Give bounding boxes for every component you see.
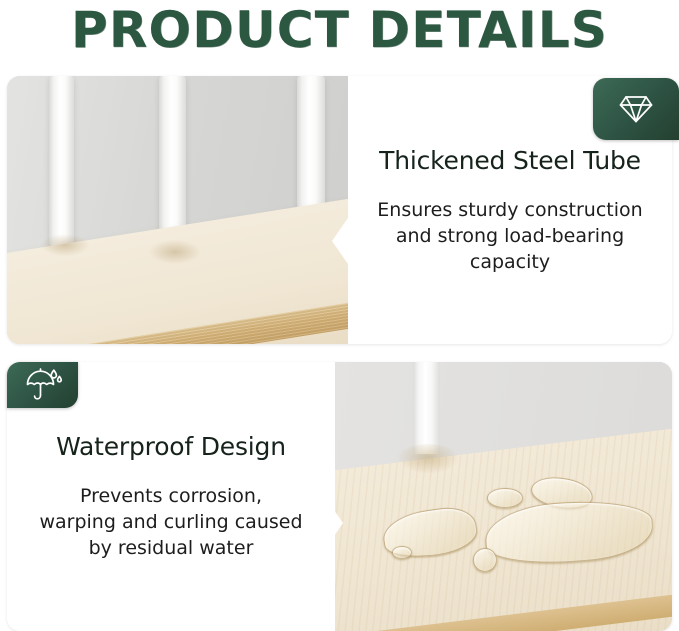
feature-photo-steel-tube bbox=[7, 76, 348, 344]
feature-card-thickened-steel-tube: Thickened Steel Tube Ensures sturdy cons… bbox=[7, 76, 672, 344]
steel-tube-leg bbox=[49, 76, 74, 246]
feature-body-line: capacity bbox=[470, 251, 550, 273]
badge-waterproof-design bbox=[7, 362, 78, 408]
feature-body-line: Prevents corrosion, bbox=[80, 485, 262, 507]
water-droplet bbox=[487, 488, 523, 508]
water-droplet bbox=[392, 546, 412, 559]
tube-contact-shadow bbox=[397, 444, 459, 474]
callout-pointer-icon bbox=[332, 215, 350, 267]
steel-tube-leg bbox=[413, 362, 440, 454]
feature-body-line: Ensures sturdy construction bbox=[377, 199, 642, 221]
water-droplet bbox=[473, 548, 497, 572]
badge-thickened-steel-tube bbox=[593, 78, 679, 140]
feature-card-waterproof-design: Waterproof Design Prevents corrosion, wa… bbox=[7, 362, 672, 631]
feature-body-line: and strong load-bearing bbox=[396, 225, 624, 247]
feature-body-line: warping and curling caused bbox=[39, 511, 302, 533]
feature-heading: Waterproof Design bbox=[56, 432, 286, 461]
tube-contact-shadow bbox=[149, 240, 201, 264]
feature-body: Prevents corrosion, warping and curling … bbox=[39, 483, 302, 561]
callout-pointer-icon bbox=[325, 497, 343, 549]
page-title: PRODUCT DETAILS bbox=[0, 0, 679, 62]
feature-body: Ensures sturdy construction and strong l… bbox=[377, 197, 642, 275]
feature-heading: Thickened Steel Tube bbox=[379, 146, 641, 175]
umbrella-rain-icon bbox=[23, 368, 63, 402]
diamond-icon bbox=[619, 94, 653, 124]
feature-photo-waterproof bbox=[335, 362, 672, 631]
tube-contact-shadow bbox=[41, 234, 89, 256]
feature-body-line: by residual water bbox=[89, 537, 254, 559]
